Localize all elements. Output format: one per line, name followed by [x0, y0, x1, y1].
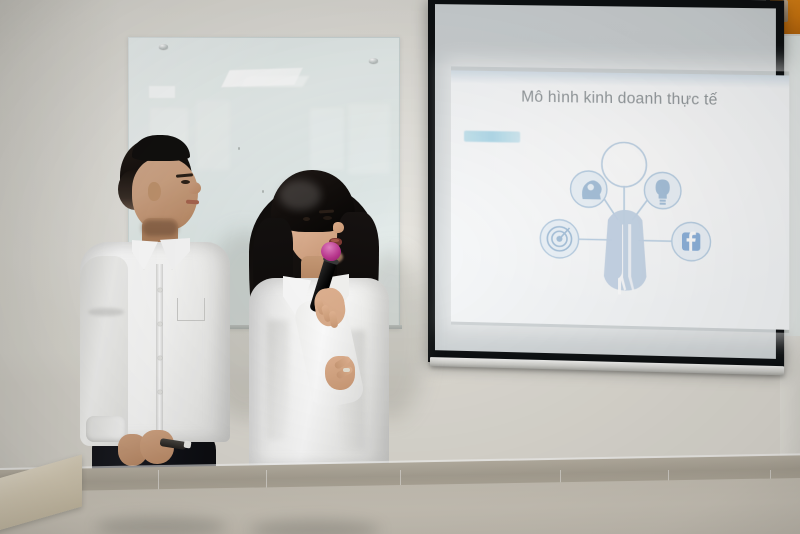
slide-title: Mô hình kinh doanh thực tế [451, 87, 789, 111]
man-nose [188, 182, 201, 194]
head-profile-icon [571, 171, 607, 208]
man-shirt-pocket [177, 298, 205, 321]
whiteboard-speck [238, 147, 240, 150]
woman-hair-sheen [279, 180, 321, 210]
man-lips [186, 200, 199, 205]
slide-top-gradient-band [451, 70, 789, 88]
woman-blouse-fold-left [267, 320, 289, 440]
man-sleeve-fold [88, 308, 124, 316]
man-hair-top [132, 135, 190, 161]
slide-accent-tag-label [464, 131, 520, 143]
target-icon [540, 219, 578, 258]
man-shirt-button [158, 288, 162, 292]
man-shirt-button [158, 390, 162, 394]
man-neck-shadow [142, 220, 178, 236]
man-shirt-button [158, 322, 162, 326]
diagram-center-figure [604, 210, 647, 296]
woman-ring [343, 368, 350, 372]
whiteboard-standoff-bolt [159, 44, 168, 49]
floor-shadow-man [96, 516, 226, 534]
floor-shadow-woman [250, 520, 380, 534]
woman-eye-right [323, 216, 332, 220]
woman-eye-left [303, 217, 310, 221]
circle-icon [602, 142, 647, 187]
whiteboard-standoff-bolt [369, 58, 378, 63]
man-shirt-button [158, 356, 162, 360]
man-ear [148, 182, 161, 201]
projection-screen-surface: Mô hình kinh doanh thực tế [435, 4, 776, 359]
slide-diagram [535, 126, 717, 316]
projection-screen: Mô hình kinh doanh thực tế [428, 0, 784, 371]
woman-nose [333, 222, 344, 233]
lightbulb-icon [644, 172, 681, 209]
diagram-svg [535, 126, 717, 316]
presentation-clicker-tip [183, 440, 191, 448]
classroom-presentation-scene: Mô hình kinh doanh thực tế [0, 0, 800, 534]
presentation-slide: Mô hình kinh doanh thực tế [451, 70, 789, 330]
facebook-icon [672, 222, 711, 261]
